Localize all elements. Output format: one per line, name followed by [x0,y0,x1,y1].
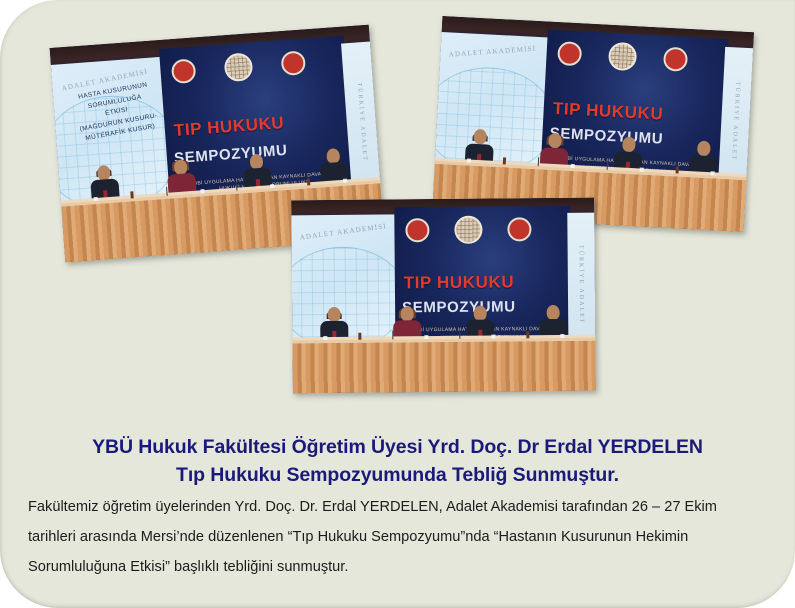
page-title-line-1: YBÜ Hukuk Fakültesi Öğretim Üyesi Yrd. D… [0,433,795,461]
photo-3-image: ADALET AKADEMİSİ TIP HUKUKU SEMPOZYUMU “… [291,198,596,394]
head [473,306,486,321]
justice-seal-icon [507,217,531,241]
screen-watermark: ADALET AKADEMİSİ [449,45,537,59]
photo-collage: ADALET AKADEMİSİ HASTA KUSURUNUN SORUMLU… [0,0,795,400]
institution-seal-icon [171,58,197,84]
justice-seal-icon [280,50,306,76]
article-paragraph: Fakültemiz öğretim üyelerinden Yrd. Doç.… [28,493,765,583]
institution-seal-icon [405,218,429,242]
globe-seal-icon [223,52,253,82]
head [401,306,414,321]
head [546,305,559,320]
justice-seal-icon [663,47,688,72]
banner-title-line1: TIP HUKUKU [404,272,515,293]
page-title-line-2: Tıp Hukuku Sempozyumunda Tebliğ Sunmuştu… [0,461,795,489]
head [328,307,341,322]
collage-photo-3[interactable]: ADALET AKADEMİSİ TIP HUKUKU SEMPOZYUMU “… [291,198,596,394]
banner-seals [171,48,306,86]
article-body: Fakültemiz öğretim üyelerinden Yrd. Doç.… [28,493,765,583]
banner-title-line1: TIP HUKUKU [552,99,663,125]
banner-seals [405,215,532,244]
globe-seal-icon [608,42,637,71]
banner-seals [557,39,689,74]
banner-title-line1: TIP HUKUKU [173,113,285,141]
table-skirt [292,338,595,394]
globe-seal-icon [454,215,482,243]
news-card: ADALET AKADEMİSİ HASTA KUSURUNUN SORUMLU… [0,0,795,608]
page-title: YBÜ Hukuk Fakültesi Öğretim Üyesi Yrd. D… [0,433,795,490]
screen-watermark: ADALET AKADEMİSİ [299,222,387,241]
institution-seal-icon [557,41,582,66]
